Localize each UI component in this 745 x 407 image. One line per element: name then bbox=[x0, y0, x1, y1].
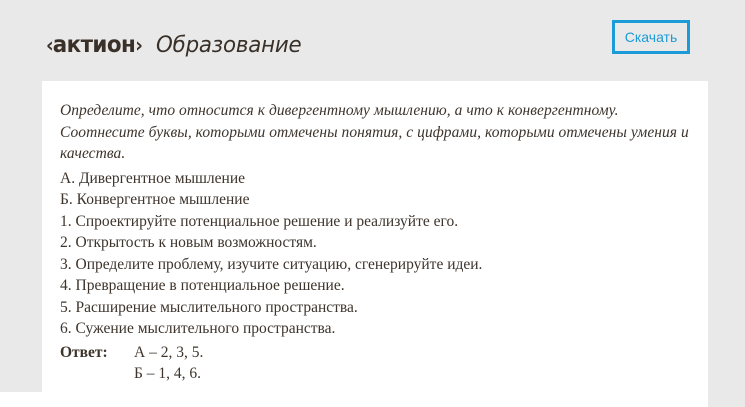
answer-block: Ответ: А – 2, 3, 5. Б – 1, 4, 6. bbox=[60, 342, 690, 385]
intro-paragraph: Определите, что относится к дивергентном… bbox=[60, 100, 690, 165]
list-item: 3. Определите проблему, изучите ситуацию… bbox=[60, 254, 690, 276]
list-item: 2. Открытость к новым возможностям. bbox=[60, 232, 690, 254]
list-item: 1. Спроектируйте потенциальное решение и… bbox=[60, 211, 690, 233]
page-bottom-strip bbox=[0, 392, 745, 407]
logo-subtitle: Образование bbox=[156, 33, 301, 58]
document-card: Определите, что относится к дивергентном… bbox=[42, 81, 708, 407]
logo-brand-text: ‹актион› bbox=[46, 32, 142, 58]
answer-value: Б – 1, 4, 6. bbox=[134, 363, 690, 385]
list-item: 6. Сужение мыслительного пространства. bbox=[60, 318, 690, 340]
download-button[interactable]: Скачать bbox=[612, 20, 690, 54]
answer-value: А – 2, 3, 5. bbox=[134, 342, 690, 364]
site-logo: ‹актион› Образование bbox=[46, 32, 306, 62]
list-item: 4. Превращение в потенциальное решение. bbox=[60, 275, 690, 297]
answer-row: Ответ: А – 2, 3, 5. bbox=[60, 342, 690, 364]
answer-label: Ответ: bbox=[60, 342, 134, 364]
answer-label-spacer bbox=[60, 363, 134, 385]
document-body: Определите, что относится к дивергентном… bbox=[60, 100, 690, 385]
logo-brand-word: актион bbox=[53, 32, 135, 58]
right-gutter bbox=[708, 81, 745, 407]
list-item: 5. Расширение мыслительного пространства… bbox=[60, 297, 690, 319]
page-header: ‹актион› Образование Скачать bbox=[0, 0, 745, 81]
answer-row: Б – 1, 4, 6. bbox=[60, 363, 690, 385]
list-item: А. Дивергентное мышление bbox=[60, 168, 690, 190]
list-item: Б. Конвергентное мышление bbox=[60, 189, 690, 211]
logo-chevron-right-icon: › bbox=[135, 33, 142, 57]
